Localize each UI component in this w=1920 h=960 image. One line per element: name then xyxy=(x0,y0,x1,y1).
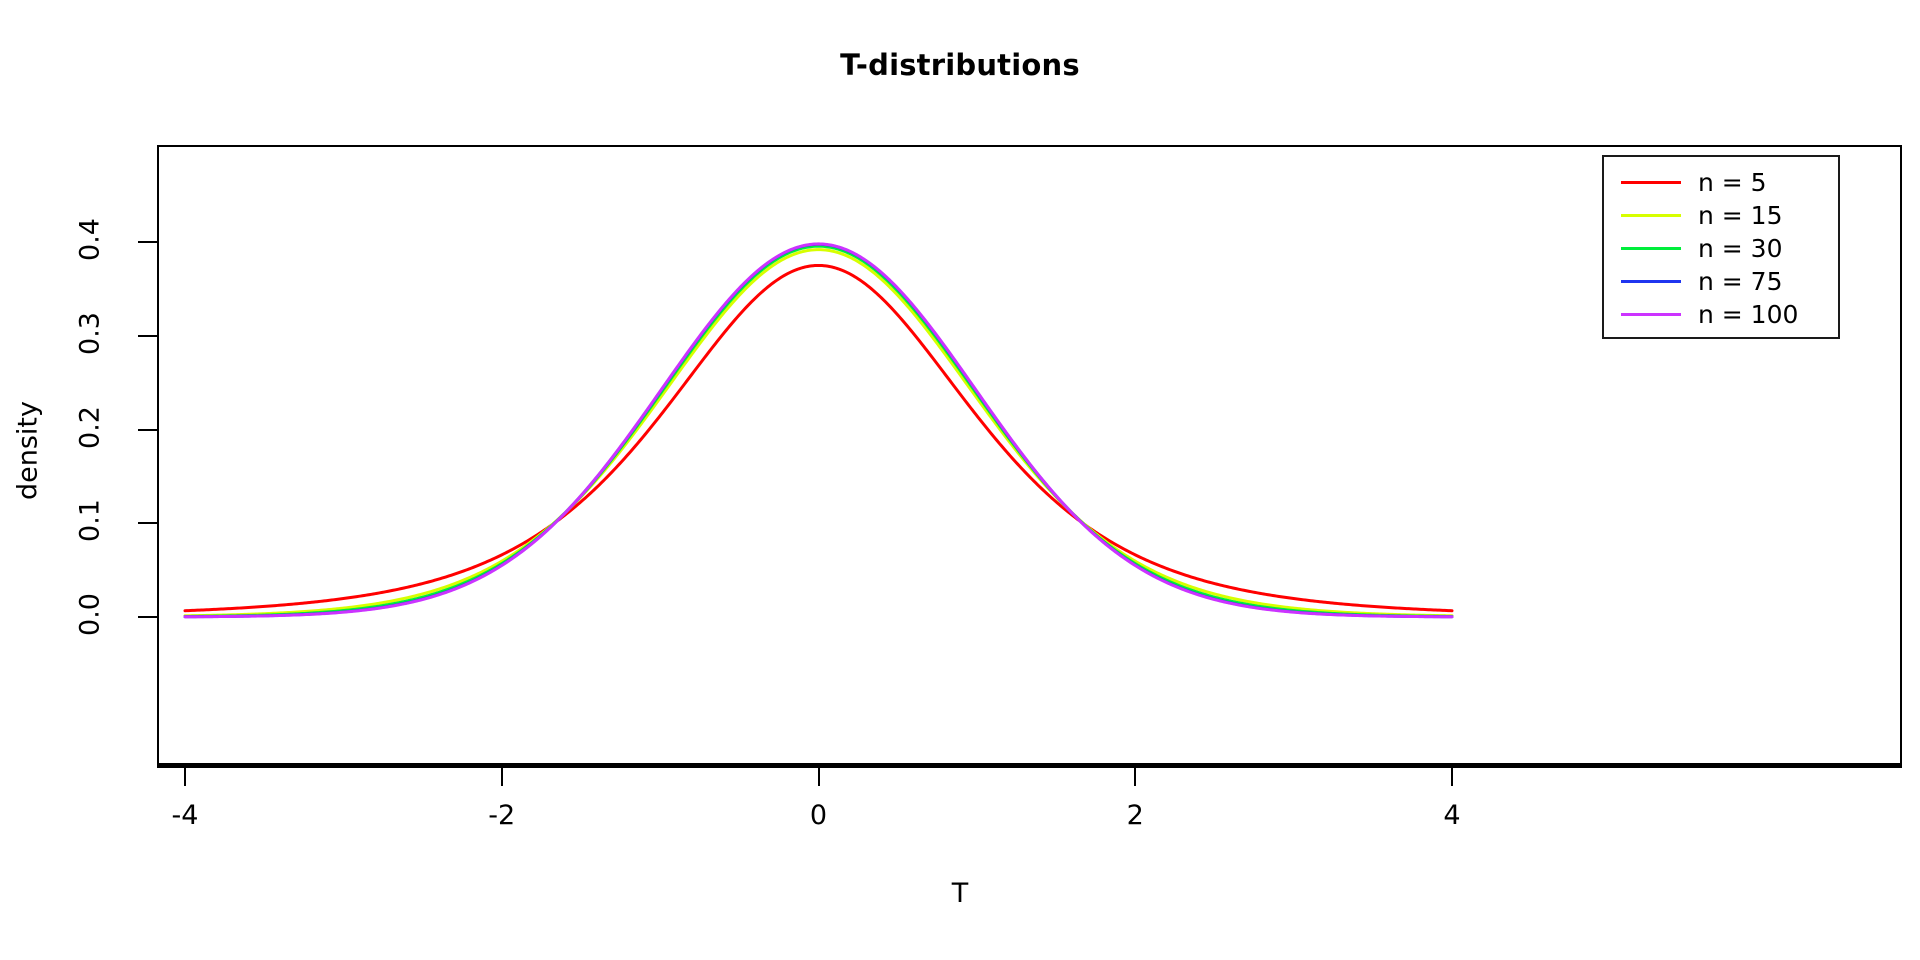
x-tick-mark xyxy=(1134,766,1136,786)
legend-item: n = 5 xyxy=(1604,166,1838,199)
legend-label: n = 30 xyxy=(1698,236,1783,261)
x-tick-mark xyxy=(184,766,186,786)
density-curve-n-15 xyxy=(185,250,1452,616)
density-curve-n-30 xyxy=(185,246,1452,616)
legend-label: n = 15 xyxy=(1698,203,1783,228)
legend-line-swatch xyxy=(1621,313,1681,316)
y-tick-label: 0.4 xyxy=(75,160,106,320)
density-curve-n-5 xyxy=(185,265,1452,610)
x-tick-label: 2 xyxy=(1075,800,1195,831)
x-tick-mark xyxy=(1451,766,1453,786)
legend-label: n = 5 xyxy=(1698,170,1767,195)
legend-line-swatch xyxy=(1621,247,1681,250)
chart-title: T-distributions xyxy=(0,48,1920,82)
legend-item: n = 30 xyxy=(1604,232,1838,265)
legend-item: n = 100 xyxy=(1604,298,1838,331)
legend-label: n = 100 xyxy=(1698,302,1798,327)
x-tick-mark xyxy=(818,766,820,786)
legend: n = 5n = 15n = 30n = 75n = 100 xyxy=(1602,155,1840,339)
legend-line-swatch xyxy=(1621,280,1681,283)
x-tick-label: -2 xyxy=(442,800,562,831)
y-tick-mark xyxy=(138,335,157,337)
legend-line-swatch xyxy=(1621,214,1681,217)
x-tick-label: 4 xyxy=(1392,800,1512,831)
y-tick-mark xyxy=(138,522,157,524)
x-tick-label: 0 xyxy=(759,800,879,831)
legend-label: n = 75 xyxy=(1698,269,1783,294)
x-tick-mark xyxy=(501,766,503,786)
y-tick-mark xyxy=(138,616,157,618)
x-axis-line xyxy=(157,765,1902,768)
y-tick-mark xyxy=(138,241,157,243)
x-tick-label: -4 xyxy=(125,800,245,831)
x-axis-title: T xyxy=(0,878,1920,909)
density-curve-n-75 xyxy=(185,244,1452,617)
legend-item: n = 75 xyxy=(1604,265,1838,298)
chart-canvas: T-distributions density 0.00.10.20.30.4 … xyxy=(0,0,1920,960)
y-axis-title: density xyxy=(13,331,44,571)
y-tick-mark xyxy=(138,429,157,431)
density-curve-n-100 xyxy=(185,244,1452,617)
legend-line-swatch xyxy=(1621,181,1681,184)
legend-item: n = 15 xyxy=(1604,199,1838,232)
legend-items: n = 5n = 15n = 30n = 75n = 100 xyxy=(1604,157,1838,331)
